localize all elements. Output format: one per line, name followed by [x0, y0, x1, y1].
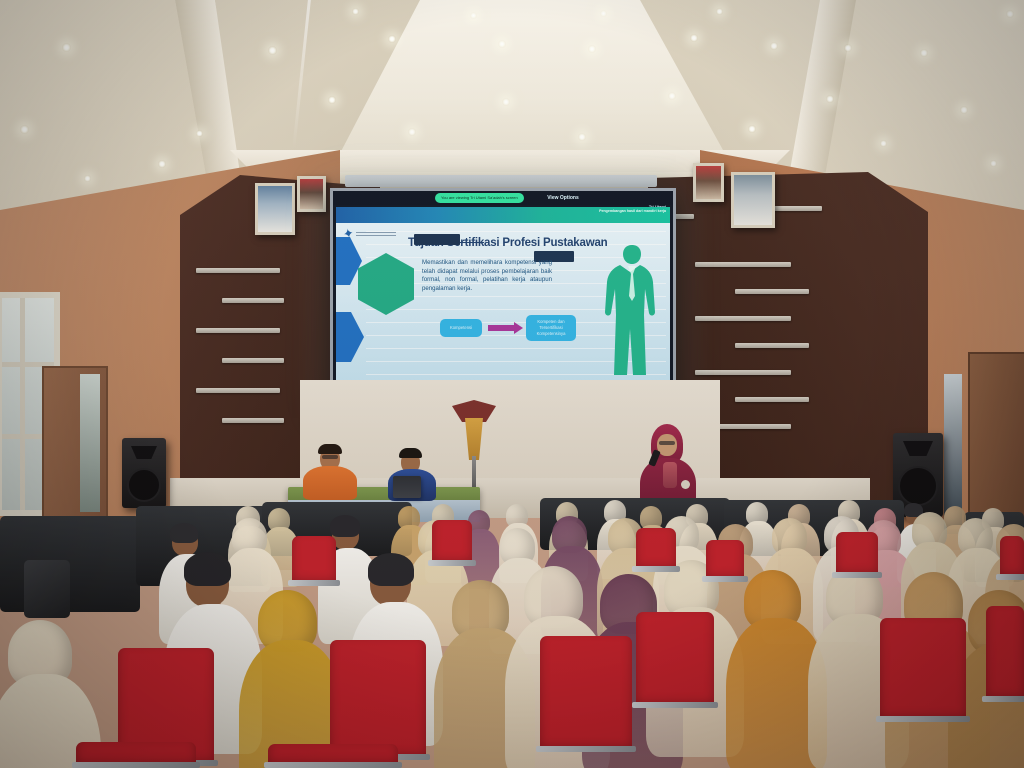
chair-frame-11 [996, 574, 1024, 580]
chair-frame-2 [536, 746, 636, 752]
wall-slat-3 [735, 343, 809, 348]
downlight-1 [62, 43, 71, 52]
chair-frame-10 [702, 576, 748, 582]
audience-hair-33 [184, 552, 231, 586]
portrait-official-small-right [693, 163, 724, 202]
portrait-officer-large-right [731, 172, 775, 228]
chair-frame-3 [632, 702, 718, 708]
slide-body-text: Memastikan dan memelihara kompetensi yan… [422, 259, 552, 293]
wall-slat-12 [222, 418, 284, 423]
audience-hair-17 [170, 523, 198, 543]
projection-screen: You are viewing Tri Utami Sa'adah's scre… [330, 188, 676, 412]
downlight-15 [826, 95, 834, 103]
downlight-6 [408, 128, 416, 136]
wall-slat-9 [196, 328, 280, 333]
downlight-10 [578, 133, 586, 141]
downlight-23 [84, 175, 91, 182]
audience-chair-3 [636, 612, 714, 708]
slide-surface: Pengembangan hasil dari mandiri kerja ✦ … [336, 207, 670, 406]
downlight-3 [268, 46, 277, 55]
chair-frame-9 [832, 572, 882, 578]
wall-slat-5 [735, 397, 809, 402]
zoom-meeting-bar: You are viewing Tri Utami Sa'adah's scre… [333, 191, 673, 205]
downlight-12 [690, 34, 698, 42]
chair-frame-7 [288, 580, 340, 586]
presenter-badge [681, 480, 690, 489]
chair-frame-5 [982, 696, 1024, 702]
downlight-8 [502, 98, 510, 106]
downlight-0 [20, 125, 29, 134]
downlight-14 [770, 42, 778, 50]
slide-header-band: Pengembangan hasil dari mandiri kerja [336, 207, 670, 223]
screen-mount-bar [345, 175, 657, 187]
chevron-shape-lower [336, 312, 364, 362]
downlight-18 [960, 106, 968, 114]
audience-chair-7 [292, 536, 336, 586]
portrait-officer-large-left [255, 183, 295, 235]
zoom-viewing-notice: You are viewing Tri Utami Sa'adah's scre… [435, 193, 524, 203]
downlight-19 [1006, 10, 1014, 18]
chair-frame-12 [72, 762, 200, 768]
downlight-28 [880, 140, 887, 147]
downlight-11 [668, 92, 676, 100]
chair-frame-8 [632, 566, 680, 572]
zoom-view-options-button[interactable]: View Options [547, 193, 579, 203]
door-right[interactable] [968, 352, 1024, 526]
slide-brand-tagline: Pengembangan hasil dari mandiri kerja [599, 209, 666, 214]
chair-frame-6 [428, 560, 476, 566]
audience-chair-2 [540, 636, 632, 752]
wall-slat-0 [695, 262, 791, 267]
wall-slat-1 [735, 289, 809, 294]
audience-chair-5 [986, 606, 1024, 702]
flow-arrow-icon [488, 325, 514, 331]
downlight-24 [600, 10, 607, 17]
downlight-5 [388, 35, 396, 43]
downlight-7 [498, 40, 506, 48]
seminar-room-photo: You are viewing Tri Utami Sa'adah's scre… [0, 0, 1024, 768]
downlight-17 [920, 49, 928, 57]
flow-box-from: Kompetensi [440, 319, 482, 337]
wall-slat-10 [222, 358, 284, 363]
audience-hair-35 [368, 553, 414, 586]
flow-box-to: Kompeten dan Tersertifikasi Kompetensiny… [526, 315, 576, 341]
door-left[interactable] [42, 366, 108, 520]
downlight-25 [470, 12, 477, 19]
audience-chair-4 [880, 618, 966, 722]
hexagon-shape [358, 253, 414, 315]
bag-on-sofa [24, 560, 70, 618]
slide-title-suffix: asi Profesi Pustakawan [484, 237, 607, 249]
downlight-22 [196, 130, 203, 137]
wall-slat-2 [695, 316, 791, 321]
downlight-26 [352, 8, 359, 15]
audience-chair-1 [330, 640, 426, 760]
chair-frame-4 [876, 716, 970, 722]
audience-hair-19 [330, 515, 360, 537]
downlight-27 [716, 8, 723, 15]
downlight-13 [748, 125, 756, 133]
businessman-silhouette-icon [600, 241, 664, 381]
pa-speaker-left [122, 438, 166, 508]
downlight-2 [158, 160, 166, 168]
chair-frame-13 [264, 762, 402, 768]
traditional-ornament-stand [452, 400, 496, 496]
downlight-4 [328, 96, 336, 104]
portrait-official-small-left [297, 176, 326, 212]
redaction-block-title [414, 234, 460, 245]
slide-logo-wordmark [356, 232, 396, 238]
slide-rule-0 [366, 231, 666, 232]
wall-slat-7 [196, 268, 280, 273]
sofa-left [0, 516, 140, 612]
downlight-16 [844, 44, 852, 52]
downlight-9 [588, 45, 596, 53]
laptop [393, 476, 421, 498]
wall-slat-11 [196, 388, 280, 393]
wall-slat-8 [222, 298, 284, 303]
wall-slat-4 [695, 370, 791, 375]
downlight-29 [990, 160, 997, 167]
